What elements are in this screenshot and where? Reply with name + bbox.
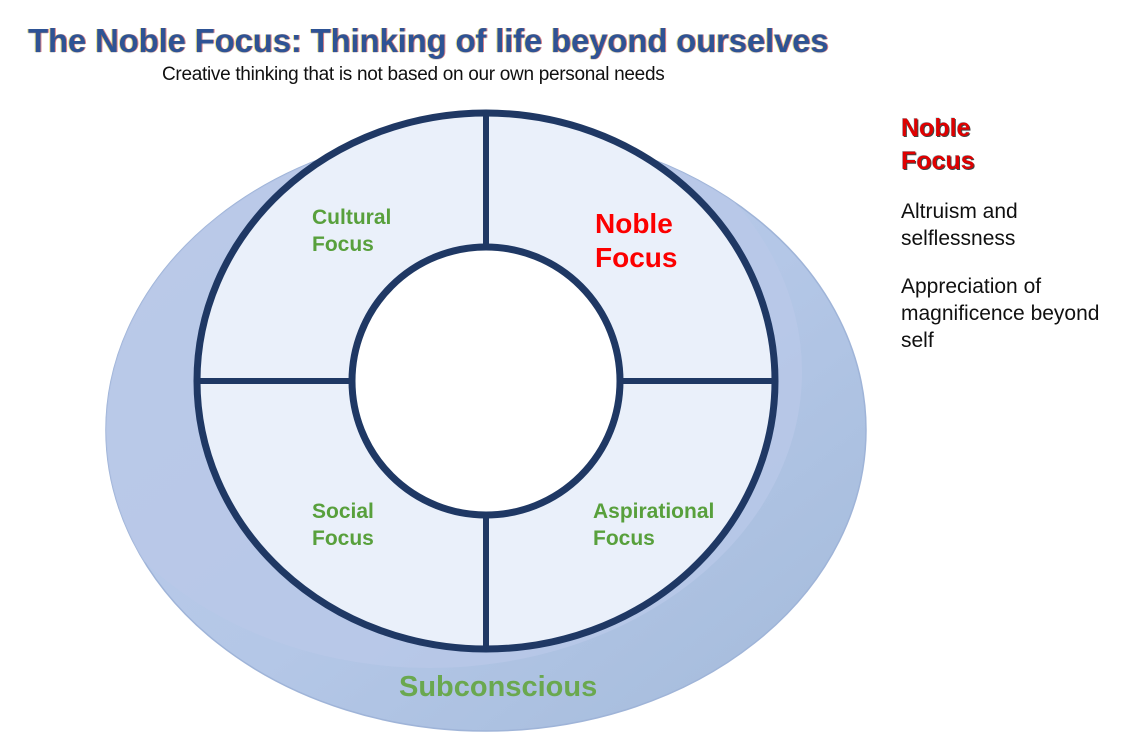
diagram-canvas [0, 0, 900, 739]
subconscious-label: Subconscious [399, 671, 597, 704]
quadrant-social-line1: Social [312, 499, 374, 526]
quadrant-label-cultural: Cultural Focus [312, 205, 391, 259]
quadrant-noble-line1: Noble [595, 207, 677, 241]
focus-ring [197, 113, 775, 649]
side-panel-point-1: Altruism and selflessness [901, 198, 1119, 253]
noble-focus-diagram: Cultural Focus Social Focus Aspirational… [0, 0, 900, 739]
quadrant-social-line2: Focus [312, 526, 374, 553]
quadrant-label-social: Social Focus [312, 499, 374, 553]
quadrant-label-noble: Noble Focus [595, 207, 677, 275]
side-panel-heading: Noble Focus [901, 112, 1119, 178]
quadrant-aspirational-line1: Aspirational [593, 499, 714, 526]
side-panel-point-2: Appreciation of magnificence beyond self [901, 273, 1119, 355]
side-heading-line2: Focus [901, 145, 1119, 178]
quadrant-cultural-line2: Focus [312, 232, 391, 259]
side-panel: Noble Focus Altruism and selflessness Ap… [901, 112, 1119, 354]
quadrant-cultural-line1: Cultural [312, 205, 391, 232]
side-heading-line1: Noble [901, 112, 1119, 145]
ring-hub [352, 247, 620, 515]
quadrant-aspirational-line2: Focus [593, 526, 714, 553]
quadrant-label-aspirational: Aspirational Focus [593, 499, 714, 553]
quadrant-noble-line2: Focus [595, 241, 677, 275]
